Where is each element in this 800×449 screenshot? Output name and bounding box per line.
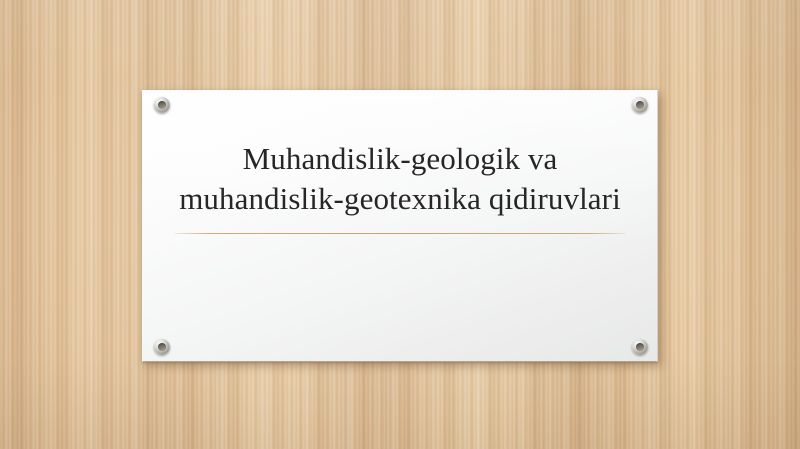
screw-icon-bottom-left xyxy=(154,339,170,355)
title-block: Muhandislik-geologik va muhandislik-geot… xyxy=(163,139,637,234)
title-underline xyxy=(175,233,625,234)
slide-title: Muhandislik-geologik va muhandislik-geot… xyxy=(163,139,637,220)
slide-canvas: Muhandislik-geologik va muhandislik-geot… xyxy=(0,0,800,449)
title-plate: Muhandislik-geologik va muhandislik-geot… xyxy=(142,90,658,362)
screw-icon-top-left xyxy=(154,97,170,113)
screw-icon-bottom-right xyxy=(632,339,648,355)
screw-icon-top-right xyxy=(632,97,648,113)
title-plate-surface: Muhandislik-geologik va muhandislik-geot… xyxy=(142,90,658,362)
